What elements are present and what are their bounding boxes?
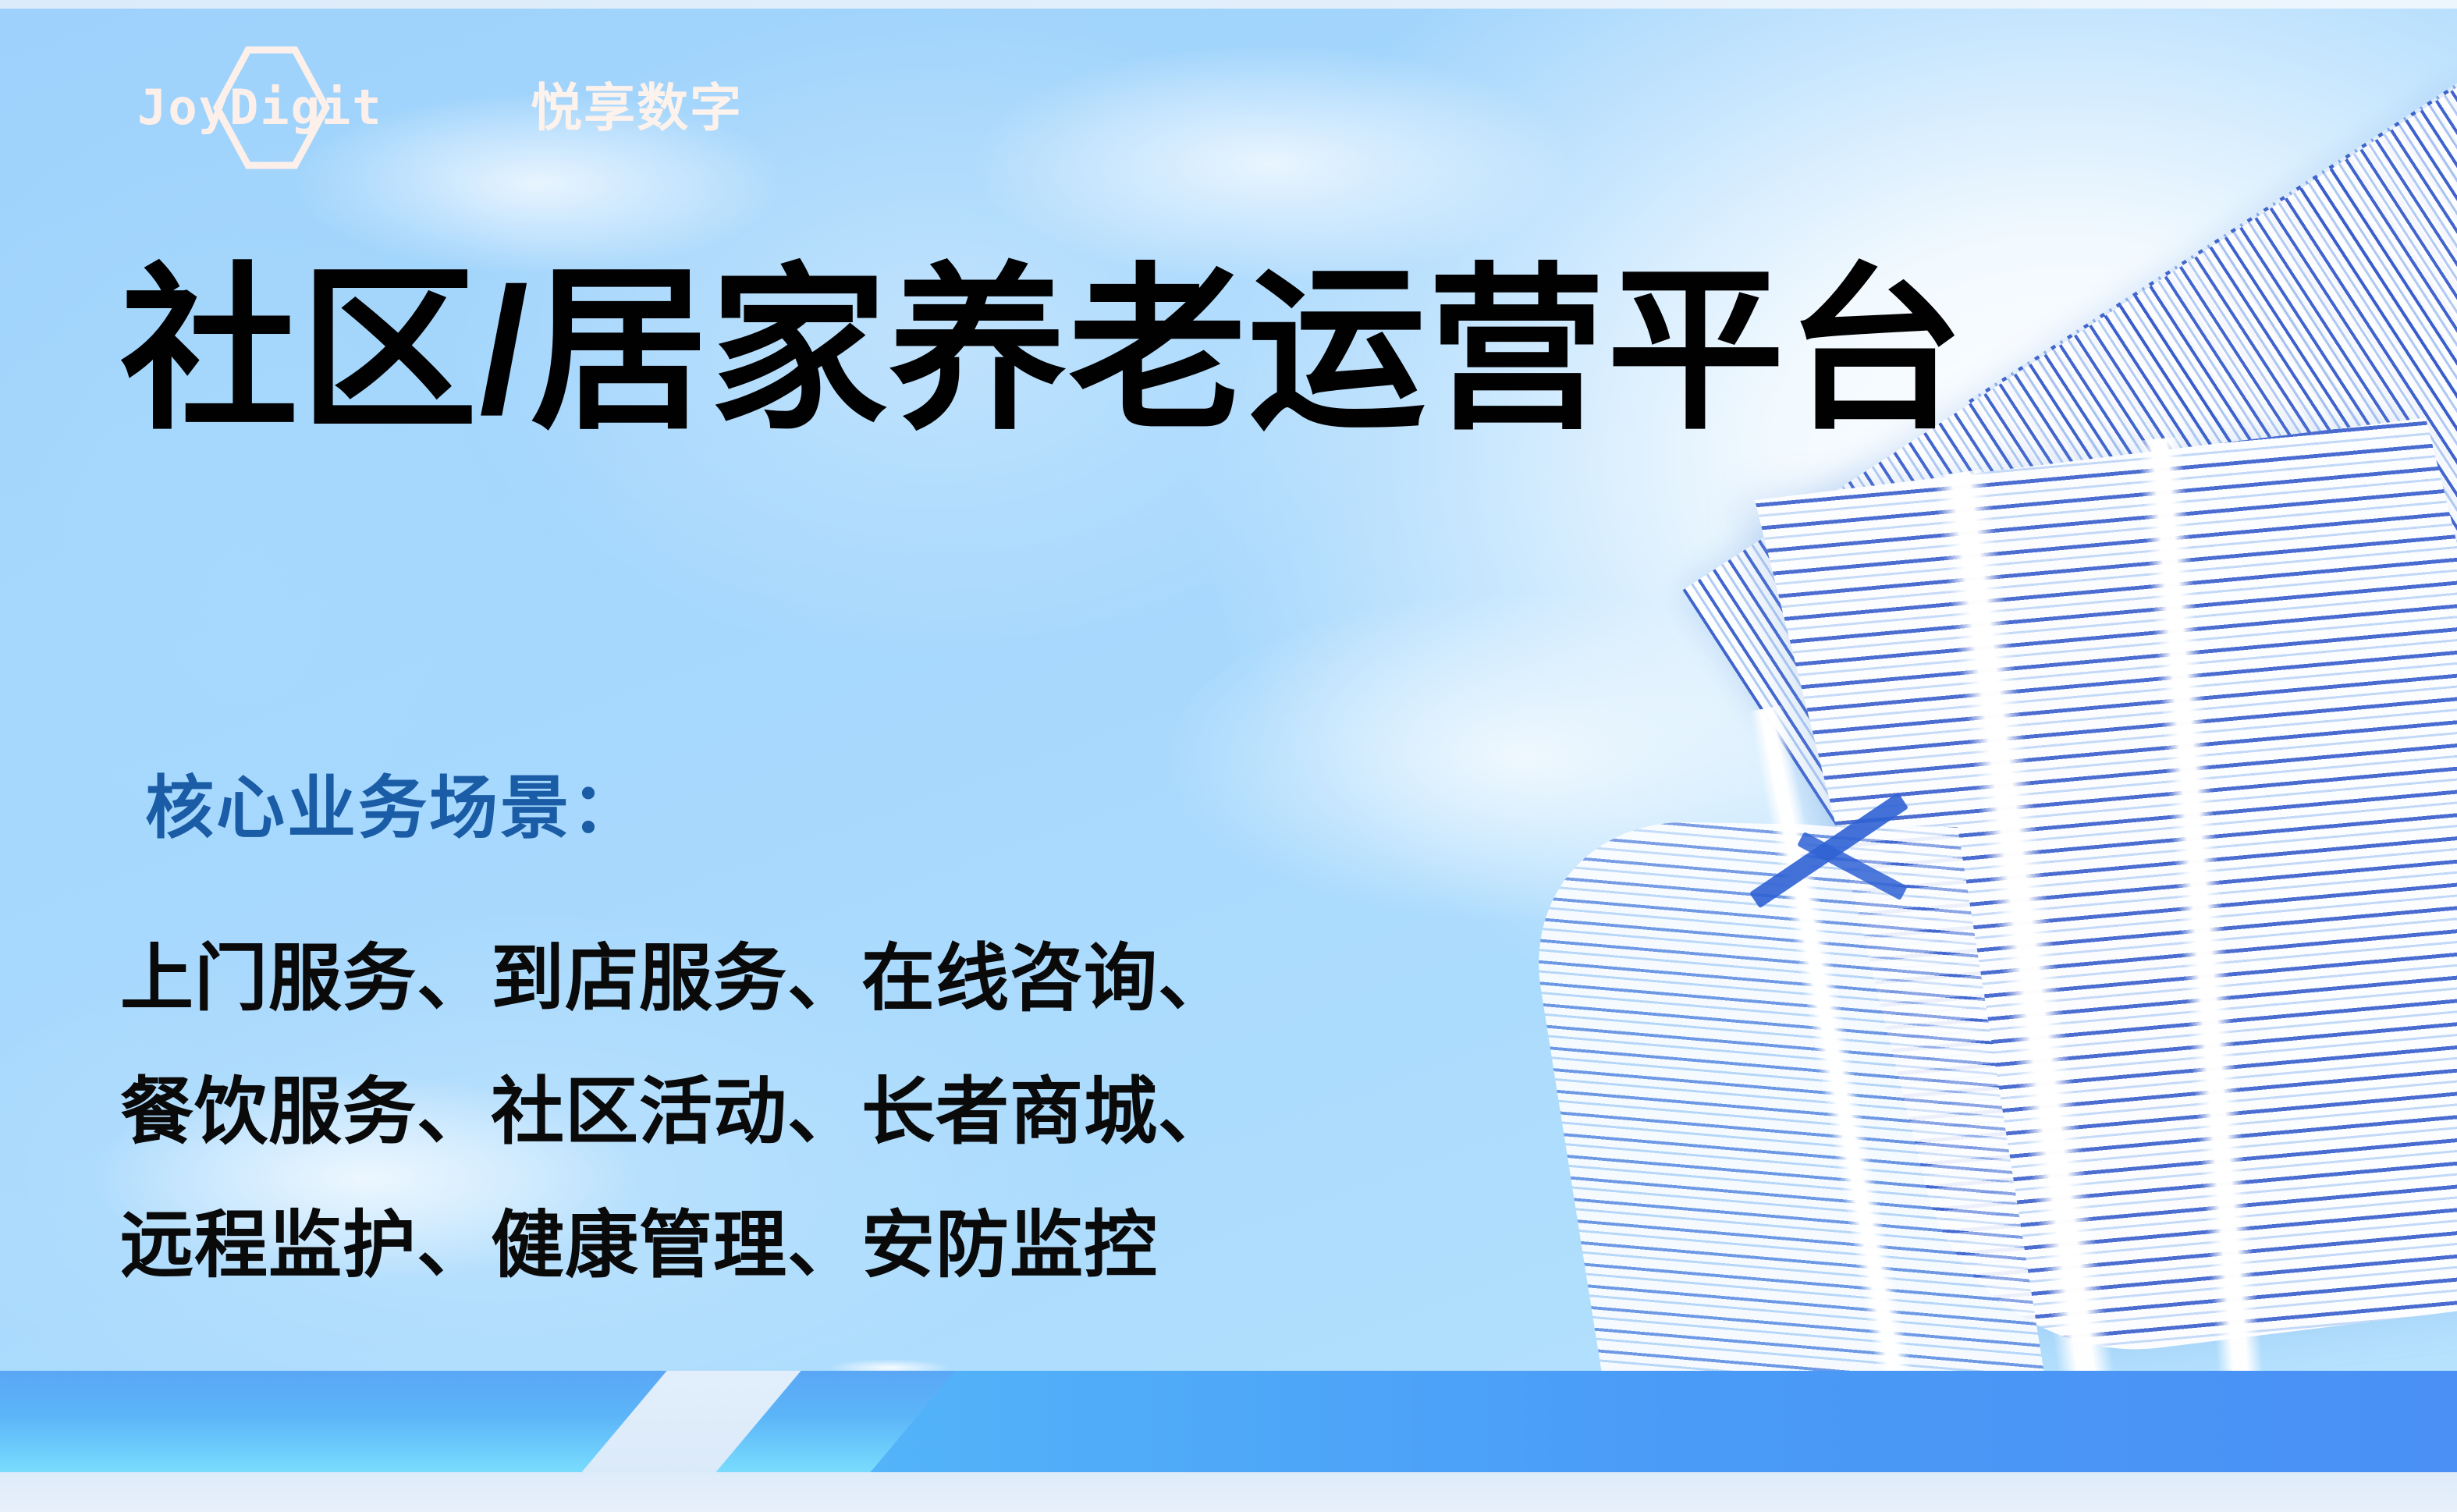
page-title: 社区/居家养老运营平台 bbox=[120, 257, 1965, 446]
scenario-line: 上门服务、到店服务、在线咨询、 bbox=[120, 911, 1232, 1045]
section-subtitle: 核心业务场景： bbox=[145, 771, 642, 847]
scenario-list: 上门服务、到店服务、在线咨询、 餐饮服务、社区活动、长者商城、 远程监护、健康管… bbox=[120, 911, 1232, 1311]
scenario-line: 远程监护、健康管理、安防监控 bbox=[120, 1178, 1232, 1311]
bottom-band bbox=[0, 1371, 2457, 1472]
logo-chinese-name: 悦享数字 bbox=[531, 82, 743, 133]
scenario-line: 餐饮服务、社区活动、长者商城、 bbox=[120, 1045, 1232, 1178]
band-footer-strip bbox=[0, 1472, 2457, 1512]
logo-mark: JoyDigit bbox=[137, 67, 504, 148]
band-left-shape bbox=[0, 1371, 956, 1472]
top-edge-strip bbox=[0, 0, 2457, 9]
slide-root: JoyDigit 悦享数字 社区/居家养老运营平台 核心业务场景： 上门服务、到… bbox=[0, 0, 2457, 1512]
brand-logo: JoyDigit 悦享数字 bbox=[137, 67, 743, 148]
logo-wordmark: JoyDigit bbox=[137, 83, 383, 132]
